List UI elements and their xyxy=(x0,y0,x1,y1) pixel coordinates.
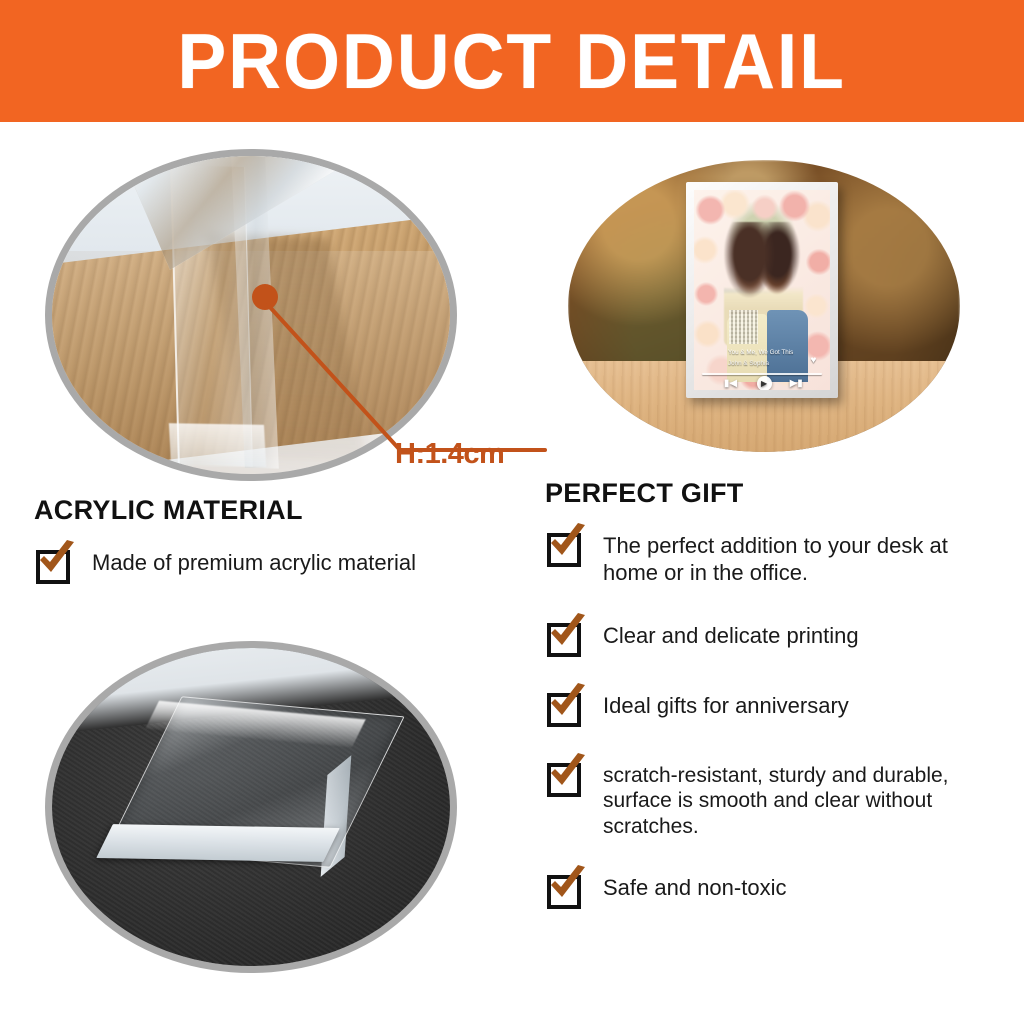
list-item-label: Made of premium acrylic material xyxy=(92,544,416,577)
list-item-label: The perfect addition to your desk at hom… xyxy=(603,527,1005,587)
check-icon xyxy=(545,863,589,907)
acrylic-plaque: You & Me, We Got This John & Sophia ♥ ▮◀… xyxy=(694,190,830,390)
checkbox-checked xyxy=(545,617,585,657)
check-icon xyxy=(545,681,589,725)
check-icon xyxy=(545,611,589,655)
block2-front-face xyxy=(96,824,340,862)
play-icon: ▶ xyxy=(757,376,772,390)
qr-code-icon xyxy=(729,310,758,344)
checkbox-checked xyxy=(34,544,74,584)
checkbox-checked xyxy=(545,869,585,909)
photo-gift-view: You & Me, We Got This John & Sophia ♥ ▮◀… xyxy=(568,160,960,452)
section-acrylic-material: ACRYLIC MATERIAL Made of premium acrylic… xyxy=(34,495,534,614)
heart-icon: ♥ xyxy=(810,356,820,366)
checkbox-checked xyxy=(545,687,585,727)
photo-acrylic-block-view xyxy=(52,648,450,966)
checkbox-checked xyxy=(545,757,585,797)
header-banner: PRODUCT DETAIL xyxy=(0,0,1024,122)
couple-names-text: John & Sophia xyxy=(728,360,769,367)
list-item: Ideal gifts for anniversary xyxy=(545,687,1005,727)
next-icon: ▶▮ xyxy=(790,378,803,389)
list-item-label: Safe and non-toxic xyxy=(603,869,786,902)
list-item: Made of premium acrylic material xyxy=(34,544,534,584)
check-icon xyxy=(34,538,78,582)
checkbox-checked xyxy=(545,527,585,567)
progress-bar xyxy=(702,373,822,375)
page-title: PRODUCT DETAIL xyxy=(178,22,847,100)
check-icon xyxy=(545,751,589,795)
previous-icon: ▮◀ xyxy=(724,378,737,389)
section-title-perfect-gift: PERFECT GIFT xyxy=(545,478,1005,509)
song-title-text: You & Me, We Got This xyxy=(728,349,793,356)
person-right-shirt xyxy=(767,310,808,382)
dimension-label: H:1.4cm xyxy=(395,438,504,471)
check-icon xyxy=(545,521,589,565)
block-view-scene xyxy=(52,648,450,966)
photo-frame: You & Me, We Got This John & Sophia ♥ ▮◀… xyxy=(686,182,838,398)
list-item: Safe and non-toxic xyxy=(545,869,1005,909)
list-item: Clear and delicate printing xyxy=(545,617,1005,657)
gift-view-scene: You & Me, We Got This John & Sophia ♥ ▮◀… xyxy=(568,160,960,452)
list-item: scratch-resistant, sturdy and durable, s… xyxy=(545,757,1005,840)
list-item-label: Clear and delicate printing xyxy=(603,617,859,650)
product-detail-infographic: PRODUCT DETAIL xyxy=(0,0,1024,1024)
list-item-label: Ideal gifts for anniversary xyxy=(603,687,849,720)
section-title-acrylic-material: ACRYLIC MATERIAL xyxy=(34,495,534,526)
photo-acrylic-edge-view xyxy=(52,156,450,474)
list-item-label: scratch-resistant, sturdy and durable, s… xyxy=(603,757,1005,840)
edge-view-scene xyxy=(52,156,450,474)
block-base-highlight xyxy=(169,423,266,467)
list-item: The perfect addition to your desk at hom… xyxy=(545,527,1005,587)
section-perfect-gift: PERFECT GIFT The perfect addition to you… xyxy=(545,478,1005,939)
